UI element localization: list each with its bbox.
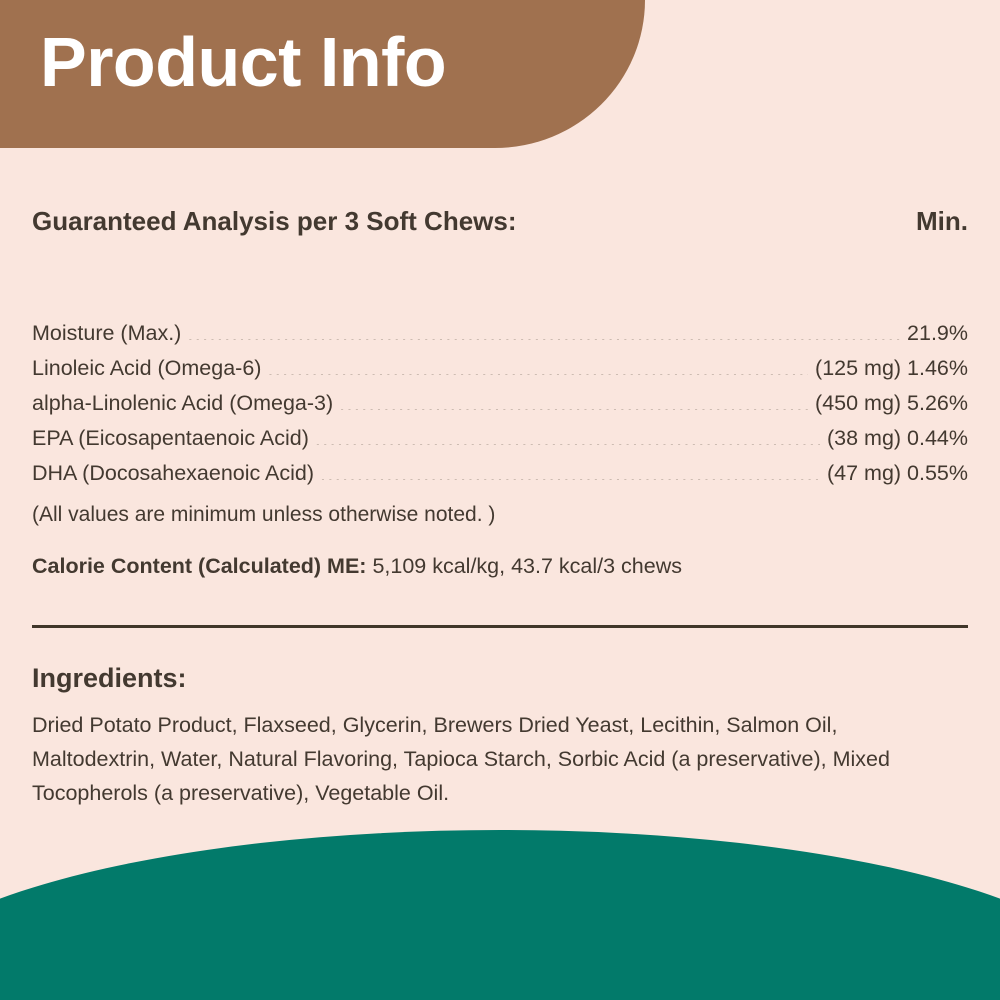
guaranteed-analysis-header: Guaranteed Analysis per 3 Soft Chews: Mi… bbox=[32, 206, 968, 237]
analysis-row: Linoleic Acid (Omega-6) (125 mg) 1.46% bbox=[32, 351, 968, 386]
footer-arc-decoration bbox=[0, 830, 1000, 1000]
dot-leader bbox=[320, 459, 820, 481]
dot-leader bbox=[267, 354, 808, 376]
ingredients-text: Dried Potato Product, Flaxseed, Glycerin… bbox=[32, 708, 952, 810]
calorie-content-value: 5,109 kcal/kg, 43.7 kcal/3 chews bbox=[372, 554, 682, 578]
page-title: Product Info bbox=[40, 27, 446, 97]
ingredients-heading: Ingredients: bbox=[32, 664, 972, 694]
analysis-row: DHA (Docosahexaenoic Acid) (47 mg) 0.55% bbox=[32, 456, 968, 491]
guaranteed-analysis-heading: Guaranteed Analysis per 3 Soft Chews: bbox=[32, 206, 517, 237]
analysis-row-value: (450 mg) 5.26% bbox=[808, 386, 968, 421]
analysis-row-value: (47 mg) 0.55% bbox=[820, 456, 968, 491]
header-banner: Product Info bbox=[0, 0, 645, 148]
section-divider bbox=[32, 625, 968, 628]
analysis-row-name: alpha-Linolenic Acid (Omega-3) bbox=[32, 386, 339, 421]
product-info-page: Product Info Guaranteed Analysis per 3 S… bbox=[0, 0, 1000, 1000]
analysis-row: EPA (Eicosapentaenoic Acid) (38 mg) 0.44… bbox=[32, 421, 968, 456]
analysis-row-name: EPA (Eicosapentaenoic Acid) bbox=[32, 421, 315, 456]
ingredients-section: Ingredients: Dried Potato Product, Flaxs… bbox=[32, 664, 972, 810]
guaranteed-analysis-list: Moisture (Max.) 21.9% Linoleic Acid (Ome… bbox=[32, 316, 968, 491]
analysis-row: alpha-Linolenic Acid (Omega-3) (450 mg) … bbox=[32, 386, 968, 421]
dot-leader bbox=[339, 389, 808, 411]
analysis-row: Moisture (Max.) 21.9% bbox=[32, 316, 968, 351]
calorie-content-label: Calorie Content (Calculated) ME: bbox=[32, 554, 366, 578]
guaranteed-analysis-min-column-header: Min. bbox=[916, 206, 968, 237]
analysis-row-name: Moisture (Max.) bbox=[32, 316, 187, 351]
calorie-content-line: Calorie Content (Calculated) ME: 5,109 k… bbox=[32, 554, 682, 579]
analysis-row-value: (38 mg) 0.44% bbox=[820, 421, 968, 456]
dot-leader bbox=[315, 424, 820, 446]
analysis-row-name: DHA (Docosahexaenoic Acid) bbox=[32, 456, 320, 491]
analysis-note: (All values are minimum unless otherwise… bbox=[32, 503, 495, 527]
analysis-row-value: (125 mg) 1.46% bbox=[808, 351, 968, 386]
analysis-row-value: 21.9% bbox=[900, 316, 968, 351]
analysis-row-name: Linoleic Acid (Omega-6) bbox=[32, 351, 267, 386]
dot-leader bbox=[187, 319, 900, 341]
